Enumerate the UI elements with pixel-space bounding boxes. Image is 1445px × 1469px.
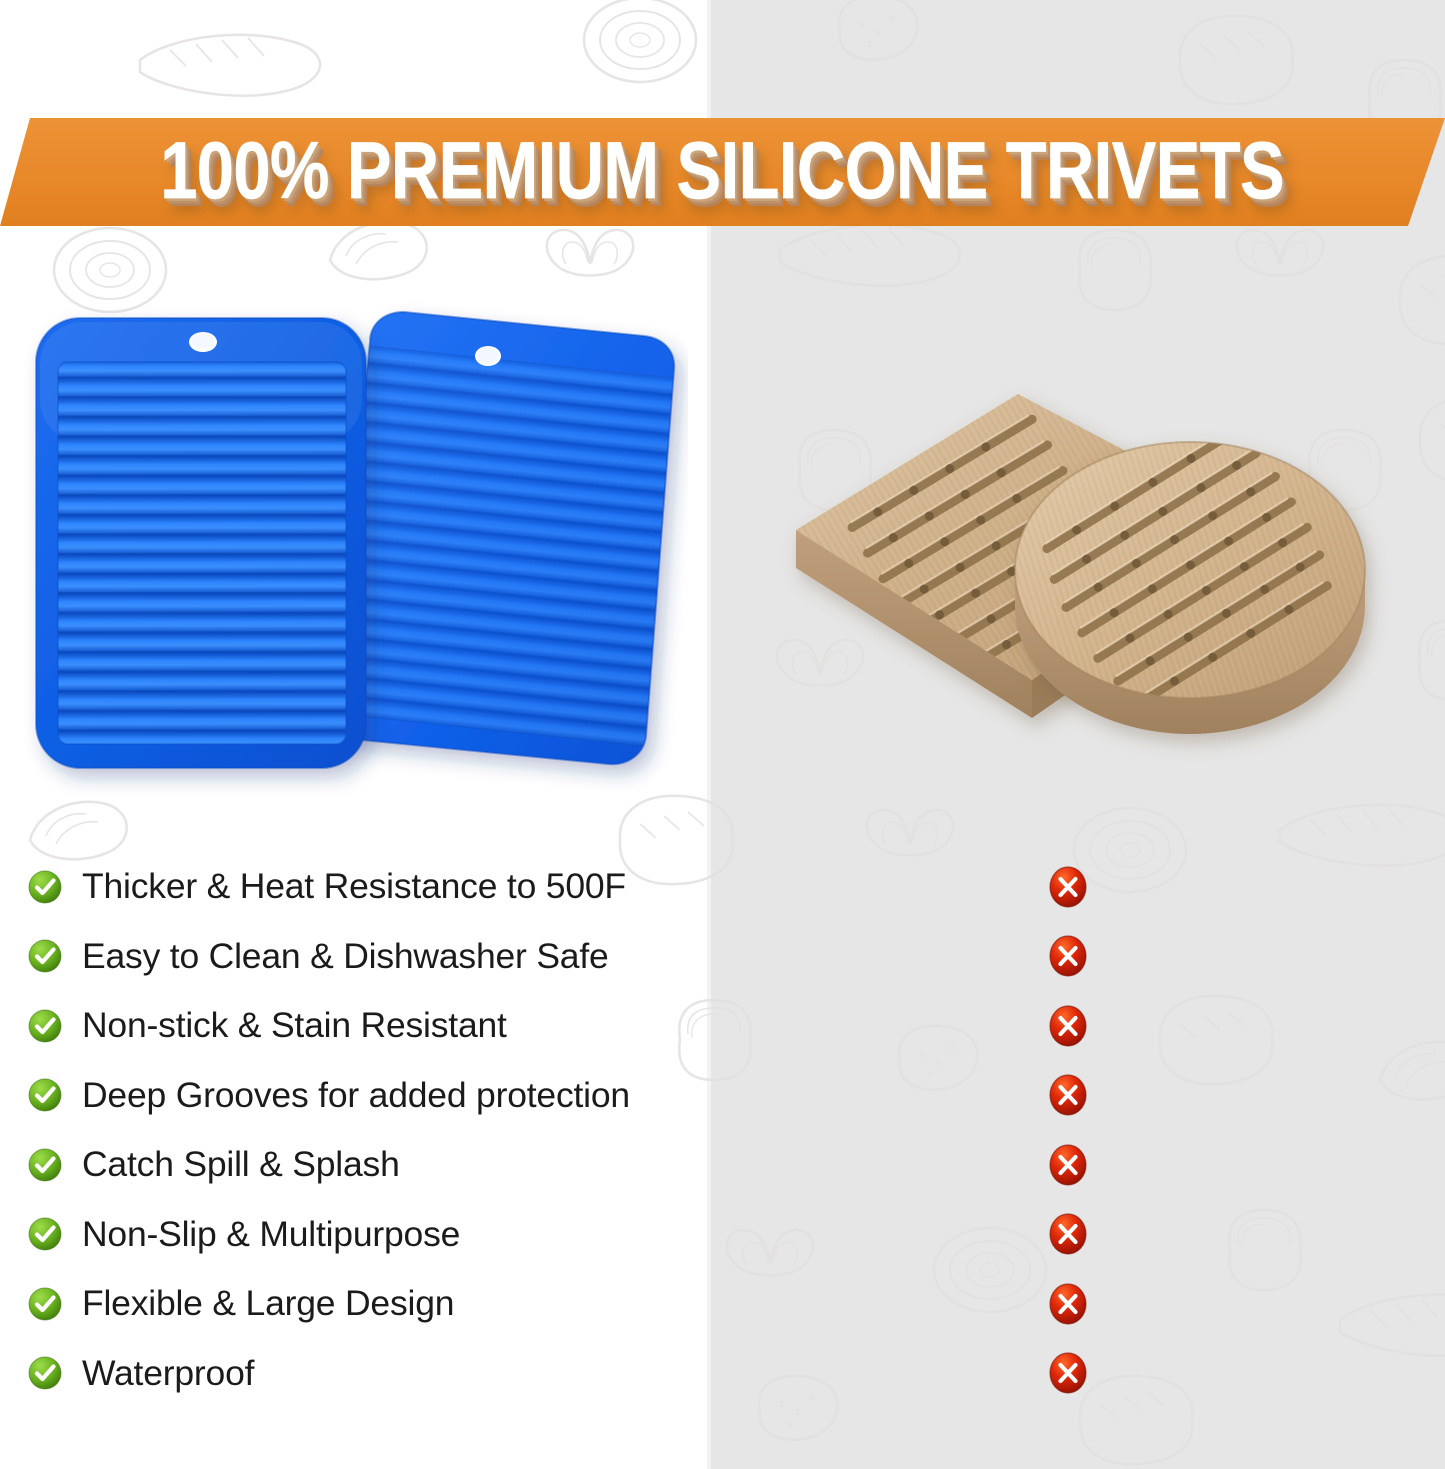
bamboo-negative-list (1046, 852, 1090, 1408)
x-circle-icon (1048, 1004, 1088, 1048)
negative-row (1046, 852, 1090, 922)
feature-label: Thicker & Heat Resistance to 500F (82, 867, 626, 906)
feature-row: Non-stick & Stain Resistant (28, 991, 688, 1061)
feature-row: Catch Spill & Splash (28, 1130, 688, 1200)
feature-row: Thicker & Heat Resistance to 500F (28, 852, 688, 922)
feature-label: Flexible & Large Design (82, 1284, 454, 1323)
feature-row: Waterproof (28, 1339, 688, 1409)
feature-row: Deep Grooves for added protection (28, 1061, 688, 1131)
check-circle-icon (28, 870, 62, 904)
x-circle-icon (1048, 1282, 1088, 1326)
product-comparison-poster: 100% PREMIUM SILICONE TRIVETS (0, 0, 1445, 1469)
x-circle-icon (1048, 1073, 1088, 1117)
feature-label: Catch Spill & Splash (82, 1145, 400, 1184)
banner-title-text: 100% PREMIUM SILICONE TRIVETS (161, 132, 1285, 213)
feature-row: Non-Slip & Multipurpose (28, 1200, 688, 1270)
negative-row (1046, 922, 1090, 992)
negative-row (1046, 991, 1090, 1061)
x-circle-icon (1048, 1143, 1088, 1187)
check-circle-icon (28, 939, 62, 973)
negative-row (1046, 1339, 1090, 1409)
feature-label: Non-Slip & Multipurpose (82, 1215, 460, 1254)
feature-label: Non-stick & Stain Resistant (82, 1006, 507, 1045)
feature-label: Deep Grooves for added protection (82, 1076, 630, 1115)
check-circle-icon (28, 1356, 62, 1390)
banner-title: 100% PREMIUM SILICONE TRIVETS (0, 141, 1445, 204)
negative-row (1046, 1200, 1090, 1270)
check-circle-icon (28, 1009, 62, 1043)
negative-row (1046, 1061, 1090, 1131)
silicone-feature-list: Thicker & Heat Resistance to 500F Easy t… (28, 852, 688, 1408)
check-circle-icon (28, 1287, 62, 1321)
check-circle-icon (28, 1148, 62, 1182)
check-circle-icon (28, 1217, 62, 1251)
x-circle-icon (1048, 1212, 1088, 1256)
x-circle-icon (1048, 934, 1088, 978)
feature-row: Easy to Clean & Dishwasher Safe (28, 922, 688, 992)
x-circle-icon (1048, 865, 1088, 909)
feature-label: Easy to Clean & Dishwasher Safe (82, 937, 609, 976)
negative-row (1046, 1269, 1090, 1339)
check-circle-icon (28, 1078, 62, 1112)
blue-trivet-front (36, 318, 366, 768)
x-circle-icon (1048, 1351, 1088, 1395)
bamboo-trivets-photo (760, 380, 1410, 800)
headline-banner: 100% PREMIUM SILICONE TRIVETS (0, 118, 1445, 226)
feature-row: Flexible & Large Design (28, 1269, 688, 1339)
negative-row (1046, 1130, 1090, 1200)
blue-trivet-back (329, 312, 688, 764)
feature-label: Waterproof (82, 1354, 254, 1393)
blue-silicone-trivets-photo (18, 300, 688, 820)
